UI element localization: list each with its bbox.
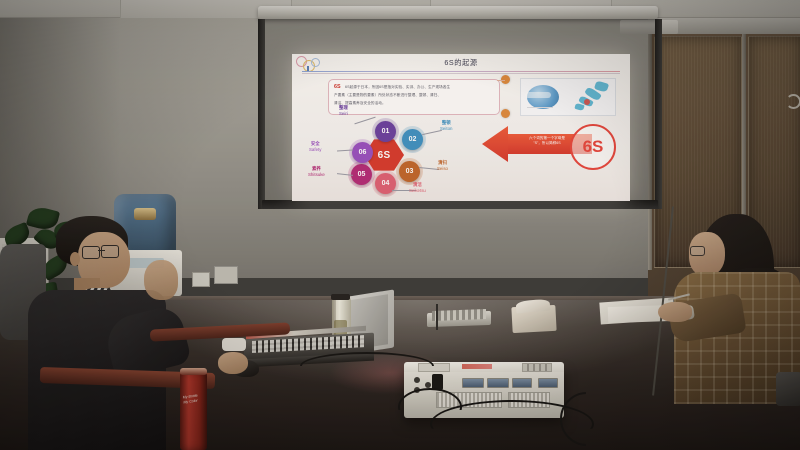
six-s-badge: 6S (570, 124, 616, 170)
arrow-caption-line-2: "S"，所以简称6S (533, 141, 560, 145)
slide-body-lead: 6S (334, 84, 341, 90)
label-06: 安全 Safety (309, 141, 321, 152)
label-03-cn: 清扫 (437, 160, 448, 166)
label-02-en: Seiton (440, 126, 452, 132)
hand (658, 302, 692, 322)
raised-hand (144, 260, 178, 300)
vga-port[interactable] (487, 378, 509, 388)
globe-band (525, 92, 551, 98)
node-03[interactable]: 03 (399, 161, 420, 182)
glasses-icon (690, 246, 705, 256)
label-02-cn: 整顿 (440, 120, 452, 126)
glasses-icon (101, 245, 119, 258)
cable (436, 304, 438, 330)
thermos-cap (180, 368, 207, 375)
screen-edge (258, 19, 265, 209)
slide-title-rule (302, 71, 620, 72)
hand-on-mouse (218, 352, 248, 374)
projected-slide: 6S的起源 6S 6S起源于日本，所因6S是指对实验、实训、办公、生产现场各生 … (292, 54, 630, 201)
label-01: 整理 Seiri (339, 105, 348, 116)
shirt-cuff (222, 338, 246, 351)
thermos-bottle (180, 372, 207, 450)
japan-map-image (520, 78, 616, 116)
office-chair (776, 372, 800, 406)
person-right (664, 214, 800, 404)
arrow-caption-line-1: 六个词的第一个字母是 (529, 136, 565, 140)
vga-port[interactable] (462, 378, 484, 388)
projector-power-plug (432, 374, 443, 390)
label-04-en: Seiketsu (409, 188, 426, 194)
leader-line (422, 130, 442, 135)
glasses-bridge (98, 250, 105, 251)
label-03-en: Seiso (437, 166, 448, 172)
label-05: 素养 Shitsuke (308, 166, 325, 177)
glasses-icon (82, 246, 100, 259)
label-02: 整顿 Seiton (440, 120, 452, 131)
node-05[interactable]: 05 (351, 164, 372, 185)
slide-title: 6S的起源 (292, 58, 630, 68)
connector-line (497, 80, 505, 81)
wall-socket[interactable] (214, 266, 238, 284)
arrow-head-icon (482, 126, 508, 162)
slide-body-line-1: 6S起源于日本，所因6S是指对实验、实训、办公、生产现场各生 (345, 85, 495, 90)
screen-bottom-bar (262, 200, 658, 209)
screen-roller-housing (258, 6, 658, 19)
japan-islands (575, 82, 609, 112)
label-06-en: Safety (309, 147, 321, 153)
projector-jack[interactable] (425, 382, 431, 388)
slide-title-rule-secondary (302, 73, 620, 74)
projector-buttons[interactable] (522, 363, 552, 372)
screen-edge (655, 19, 662, 209)
node-06[interactable]: 06 (352, 142, 373, 163)
node-02[interactable]: 02 (402, 129, 423, 150)
slide-text-box: 6S 6S起源于日本，所因6S是指对实验、实训、办公、生产现场各生 产要素（主要… (328, 79, 500, 115)
label-06-cn: 安全 (309, 141, 321, 147)
node-04[interactable]: 04 (375, 173, 396, 194)
projector-jack[interactable] (414, 377, 420, 383)
label-01-cn: 整理 (339, 105, 348, 111)
leader-line (354, 117, 375, 125)
projector-brand-mark (462, 364, 492, 369)
serial-port[interactable] (512, 378, 532, 388)
power-strip-sockets[interactable] (432, 309, 486, 321)
label-05-en: Shitsuke (308, 172, 325, 178)
label-04: 清洁 Seiketsu (409, 182, 426, 193)
slide-body-line-2: 产要素（主要是物的要素）所处状态不断进行整理、整顿、清扫、 (334, 93, 494, 98)
serial-port[interactable] (538, 378, 558, 388)
node-01[interactable]: 01 (375, 121, 396, 142)
label-03: 清扫 Seiso (437, 160, 448, 171)
slide-body-line-3: 清洁、提高素养及安全的活动。 (334, 101, 494, 106)
door-handle-icon[interactable] (786, 94, 800, 109)
tea-jar-cap (331, 294, 350, 300)
label-01-en: Seiri (339, 111, 348, 117)
ear (70, 252, 80, 266)
meeting-room-scene: 6S的起源 6S 6S起源于日本，所因6S是指对实验、实训、办公、生产现场各生 … (0, 0, 800, 450)
connector-dot (501, 109, 510, 118)
